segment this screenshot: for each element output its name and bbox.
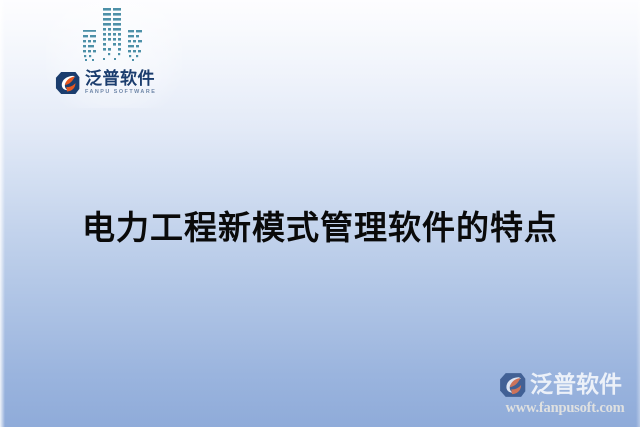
presentation-slide: 泛普软件 FANPU SOFTWARE 电力工程新模式管理软件的特点 泛普软件 …	[0, 0, 640, 427]
header-brand-lockup: 泛普软件 FANPU SOFTWARE	[52, 70, 178, 96]
fanpu-logo-mark-icon	[54, 70, 80, 96]
watermark-brand: 泛普软件 www.fanpusoft.com	[498, 371, 632, 417]
header-brand-name-en: FANPU SOFTWARE	[85, 90, 156, 95]
header-brand-block: 泛普软件 FANPU SOFTWARE	[52, 6, 178, 96]
watermark-lockup: 泛普软件	[498, 371, 632, 399]
header-brand-name-cn: 泛普软件	[85, 71, 156, 88]
watermark-brand-name: 泛普软件	[530, 374, 622, 397]
slide-title-container: 电力工程新模式管理软件的特点	[0, 186, 640, 271]
page-title: 电力工程新模式管理软件的特点	[82, 208, 558, 249]
city-skyline-icon	[78, 6, 152, 66]
watermark-url: www.fanpusoft.com	[498, 400, 632, 417]
fanpu-logo-mark-icon	[498, 371, 526, 399]
